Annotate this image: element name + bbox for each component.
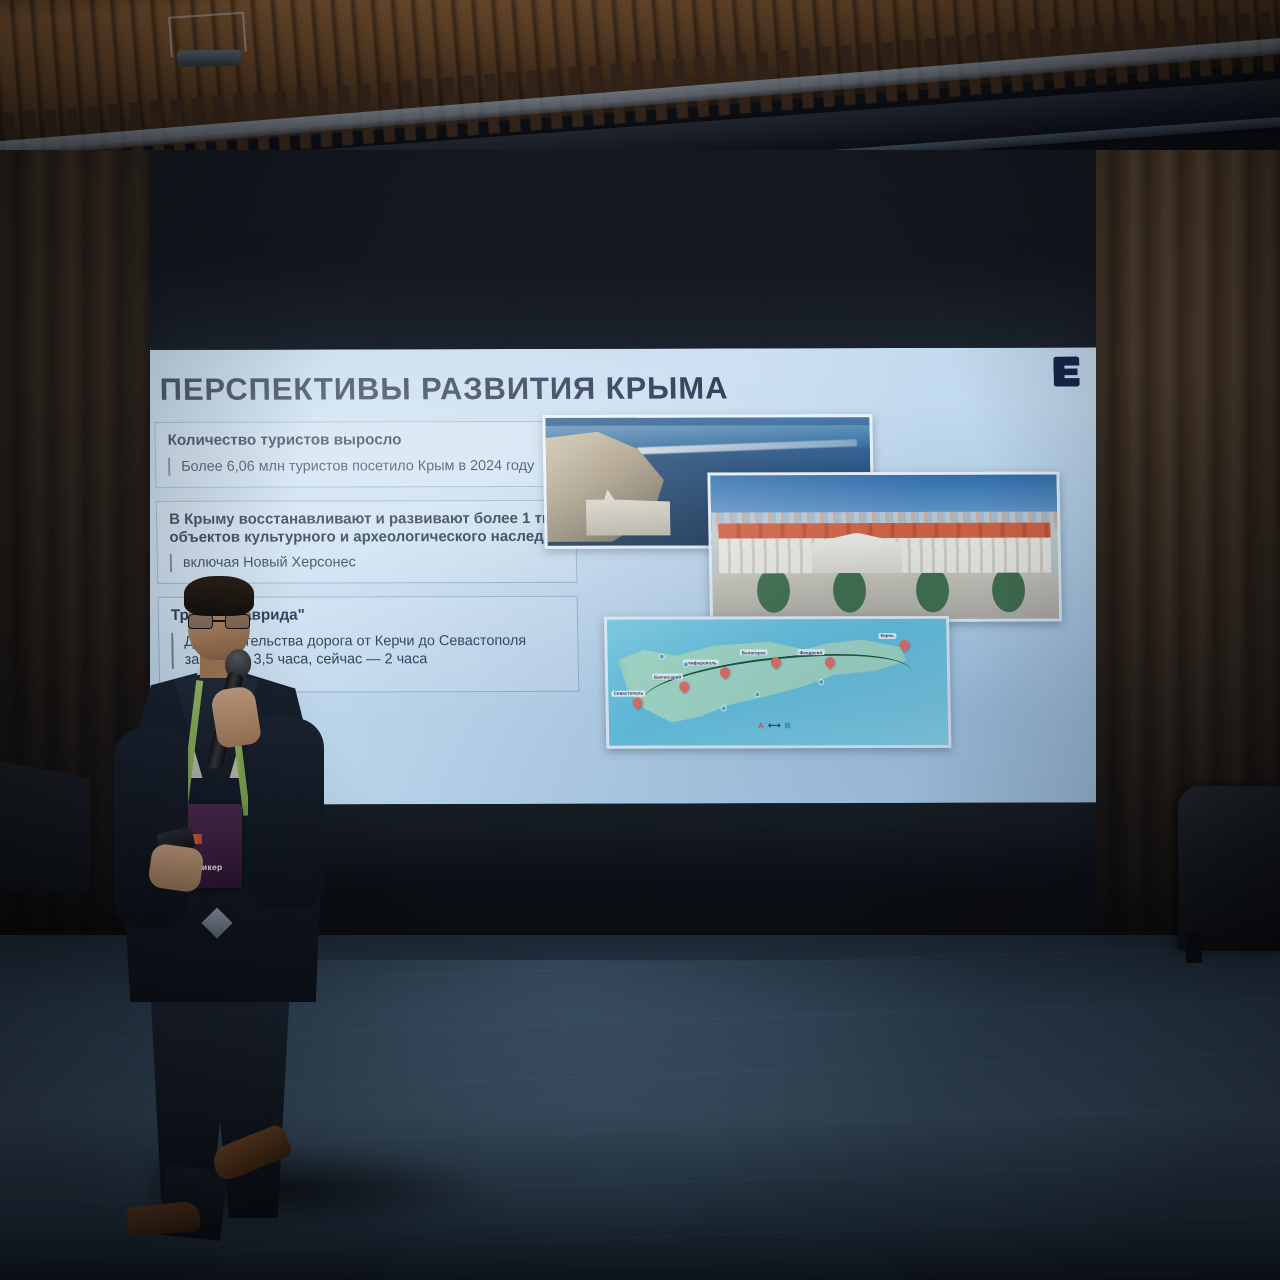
legend-point-b: B [785,721,791,730]
conference-stage-photo: ПЕРСПЕКТИВЫ РАЗВИТИЯ КРЫМА Количество ту… [0,0,1280,1280]
tree [830,573,869,616]
speaker-hair [184,576,254,616]
map-city-dot [754,691,760,697]
fixture-head [177,50,241,67]
crimea-route-map: Севастополь Бахчисарай Симферополь Белог… [604,616,951,749]
stage-chair-right [1178,786,1280,951]
slide-title: ПЕРСПЕКТИВЫ РАЗВИТИЯ КРЫМА [159,370,728,407]
map-pin-label: Белогорск [740,650,768,656]
map-city-dot [720,705,726,711]
speaker-left-hand [147,843,205,894]
legend-arrow-icon: ⟷ [768,720,781,731]
tree [754,573,793,616]
glasses-lens [188,614,213,629]
speaker-right-arm [248,718,324,908]
glasses-icon [188,614,250,629]
map-illustration: Севастополь Бахчисарай Симферополь Белог… [607,619,948,746]
block-subtext: Более 6,06 млн туристов посетило Крым в … [168,456,562,475]
map-route-legend: A ⟷ B [758,720,791,731]
map-pin-label: Керчь [878,633,896,639]
glasses-lens [225,614,250,629]
map-pin-label: Севастополь [612,690,646,696]
speaker-person: Спикер [96,568,346,1258]
block-heading: В Крыму восстанавливают и развивают боле… [169,510,564,548]
complex-illustration [710,475,1059,620]
map-city-dot [682,661,688,667]
stage-chair-left [0,760,90,890]
legend-point-a: A [758,721,764,730]
map-pin-label: Феодосия [797,649,824,655]
map-pin-label: Бахчисарай [652,674,683,680]
slide-block: Количество туристов выросло Более 6,06 м… [154,421,575,488]
ceiling-fixture [168,11,254,75]
glasses-bridge [213,620,225,622]
tree [989,573,1028,616]
tree [913,573,952,616]
brand-logo-icon [1048,354,1085,390]
speaker-left-arm [114,728,188,928]
block-heading: Количество туристов выросло [168,431,562,451]
map-city-dot [658,654,664,660]
new-chersonesus-photo [707,472,1062,623]
